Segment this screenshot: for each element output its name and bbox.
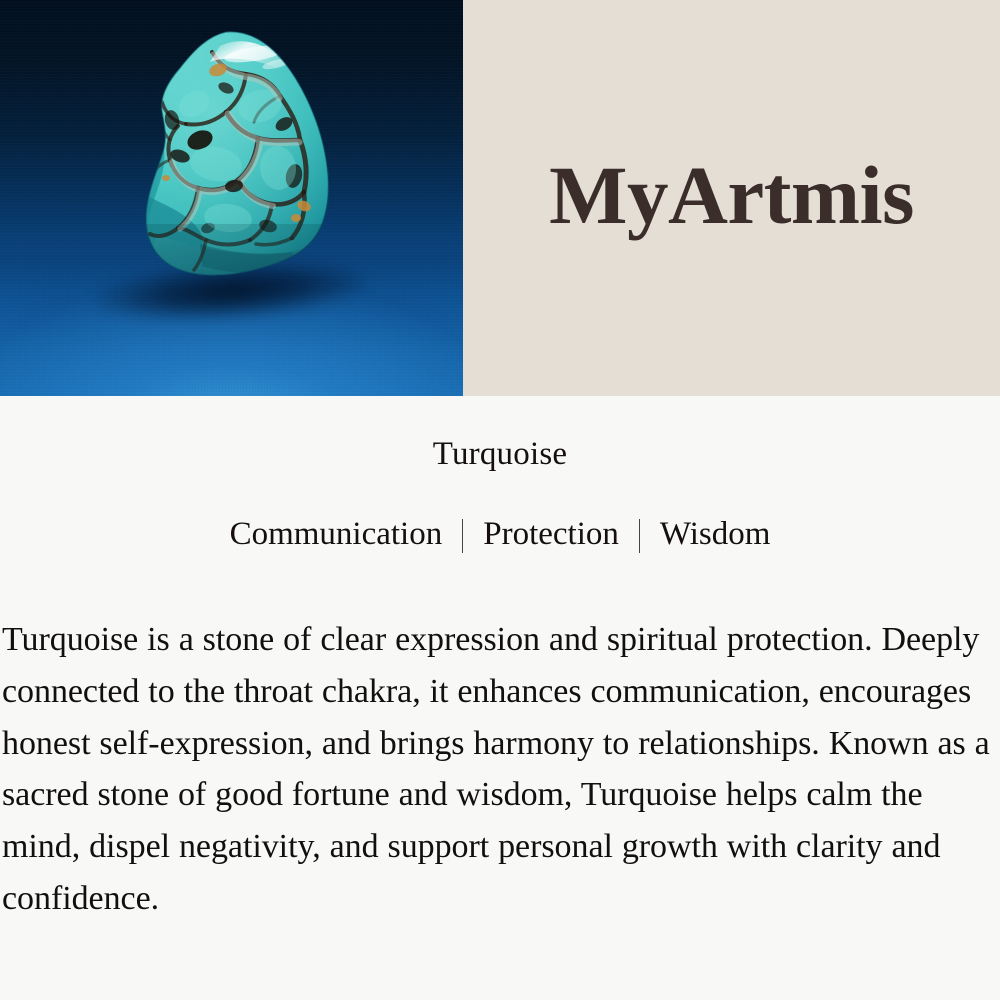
keyword-list: Communication Protection Wisdom — [0, 472, 1000, 554]
stone-title: Turquoise — [0, 396, 1000, 472]
content-area: Turquoise Communication Protection Wisdo… — [0, 396, 1000, 1000]
product-info-card: MyArtmis Turquoise Communication Protect… — [0, 0, 1000, 1000]
keyword-separator-icon — [462, 519, 463, 553]
keyword-wisdom: Wisdom — [660, 516, 771, 554]
stone-illustration — [108, 28, 344, 296]
turquoise-stone-photo — [0, 0, 463, 396]
keyword-communication: Communication — [230, 516, 443, 554]
brand-panel: MyArtmis — [463, 0, 1000, 396]
keyword-separator-icon — [639, 519, 640, 553]
stone-description: Turquoise is a stone of clear expression… — [0, 554, 1000, 924]
keyword-protection: Protection — [483, 516, 619, 554]
brand-name: MyArtmis — [549, 154, 914, 243]
header-banner: MyArtmis — [0, 0, 1000, 396]
turquoise-stone-figure — [108, 28, 344, 296]
stone-body — [108, 28, 344, 296]
